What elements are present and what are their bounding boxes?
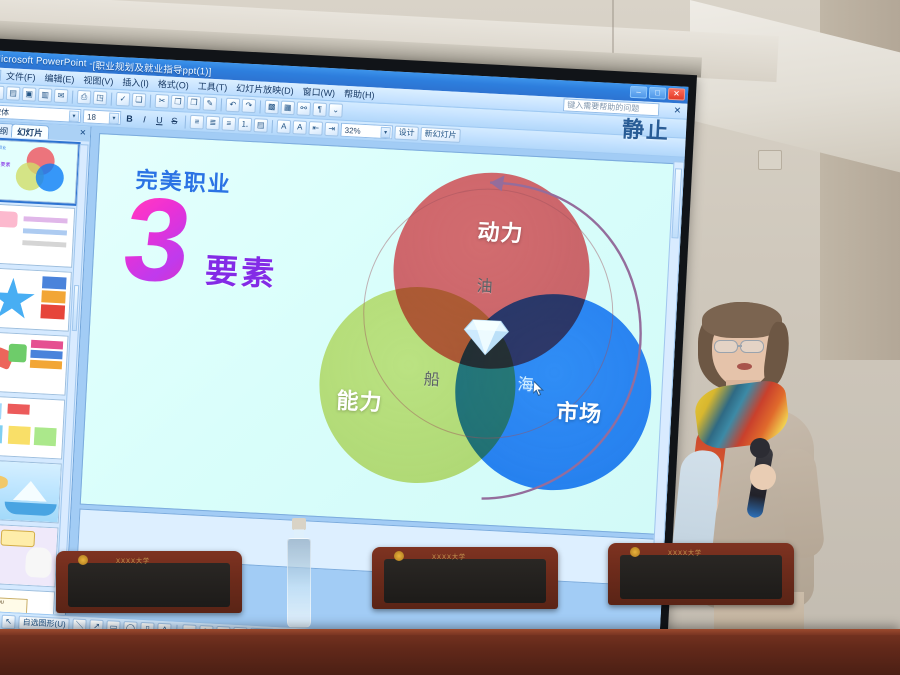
front-desk <box>0 629 900 675</box>
close-document-button[interactable]: ✕ <box>673 105 681 116</box>
toolbar-separator <box>271 120 273 133</box>
chevron-down-icon[interactable]: ▾ <box>69 110 80 122</box>
scrollbar-thumb[interactable] <box>72 285 79 331</box>
toolbar-separator <box>111 92 113 105</box>
numbering-icon[interactable]: ⒈ <box>237 117 252 132</box>
expand-toolbar-icon[interactable]: ⌄ <box>328 103 343 118</box>
align-right-icon[interactable]: ≡ <box>221 116 236 131</box>
slide-thumb-1[interactable]: 完美职业 3 要素 <box>0 139 79 204</box>
italic-button[interactable]: I <box>138 112 152 127</box>
minimize-button[interactable]: – <box>630 86 648 99</box>
email-icon[interactable]: ✉ <box>54 89 69 104</box>
scrollbar-thumb[interactable] <box>671 168 682 238</box>
menu-item-tools[interactable]: 工具(T) <box>193 79 231 94</box>
toolbar-separator <box>72 90 74 103</box>
insert-chart-icon[interactable]: ▩ <box>264 100 279 115</box>
menu-item-file[interactable]: 文件(F) <box>2 69 40 84</box>
paste-icon[interactable]: ❒ <box>187 96 202 111</box>
chevron-down-icon[interactable]: ▾ <box>109 113 120 125</box>
projector-freeze-label: 静止 <box>621 111 671 145</box>
chair-pad <box>620 555 782 599</box>
select-objects-icon[interactable]: ↖ <box>1 615 16 630</box>
bottle-body <box>287 538 311 628</box>
copy-icon[interactable]: ❐ <box>171 95 186 110</box>
align-left-icon[interactable]: ≡ <box>190 115 205 130</box>
slide-big-number: 3 <box>117 180 197 301</box>
design-button[interactable]: 设计 <box>394 126 419 141</box>
chair-engraving: XXXX大学 <box>116 556 150 565</box>
show-formatting-icon[interactable]: ¶ <box>312 102 327 117</box>
slide-thumb-3[interactable] <box>0 267 72 332</box>
toolbar-separator <box>150 94 152 107</box>
underline-button[interactable]: U <box>153 113 167 128</box>
open-icon[interactable]: ▤ <box>6 86 21 101</box>
maximize-button[interactable]: □ <box>649 87 667 100</box>
chair-emblem-icon <box>630 547 640 557</box>
glasses-bridge-icon <box>737 345 742 347</box>
current-slide[interactable]: 完美职业 3 要素 <box>80 133 677 535</box>
menu-item-slideshow[interactable]: 幻灯片放映(D) <box>232 81 298 97</box>
diamond-icon <box>461 317 511 357</box>
chair-engraving: XXXX大学 <box>432 552 466 561</box>
desk-edge <box>0 629 900 635</box>
chair-engraving: XXXX大学 <box>668 548 702 557</box>
insert-table-icon[interactable]: ▦ <box>280 101 295 116</box>
new-icon[interactable]: ▯ <box>0 85 5 100</box>
microphone-head-icon <box>750 438 770 458</box>
close-pane-icon[interactable]: ✕ <box>79 128 86 137</box>
menu-item-format[interactable]: 格式(O) <box>154 77 194 92</box>
shadow-button[interactable]: S <box>168 114 182 129</box>
venn-overlap-label-hai: 海 <box>517 370 534 395</box>
presenter-mouth <box>737 363 752 370</box>
venn-label-dongli: 动力 <box>477 214 525 248</box>
redo-icon[interactable]: ↷ <box>241 98 256 113</box>
slide-thumb-6[interactable] <box>0 459 62 524</box>
font-name-select[interactable]: 宋体 ▾ <box>0 104 81 123</box>
menu-item-edit[interactable]: 编辑(E) <box>40 71 79 86</box>
chair-emblem-icon <box>78 555 88 565</box>
slide-thumb-8[interactable]: Thank You <box>0 587 55 615</box>
water-bottle <box>286 518 312 628</box>
slide-thumb-7[interactable] <box>0 523 58 588</box>
increase-indent-icon[interactable]: ⇥ <box>324 122 339 137</box>
bold-button[interactable]: B <box>123 111 137 126</box>
mouse-cursor-icon <box>533 381 545 397</box>
chair-emblem-icon <box>394 551 404 561</box>
venn-diagram: 动力 能力 市场 油 船 海 <box>313 164 660 521</box>
lecture-hall-scene: Microsoft PowerPoint - [职业规划及就业指导ppt(1)]… <box>0 0 900 675</box>
slide-thumb-2[interactable] <box>0 203 75 268</box>
decrease-indent-icon[interactable]: ⇤ <box>308 121 323 136</box>
window-title: Microsoft PowerPoint - <box>0 53 93 69</box>
slide-thumb-5[interactable] <box>0 395 65 460</box>
insert-hyperlink-icon[interactable]: ⚯ <box>296 101 311 116</box>
align-center-icon[interactable]: ≣ <box>206 116 221 131</box>
format-painter-icon[interactable]: ✎ <box>203 96 218 111</box>
window-controls: – □ ✕ <box>630 86 686 101</box>
bullets-icon[interactable]: ▤ <box>253 118 268 133</box>
zoom-value: 32% <box>344 125 360 135</box>
slide-thumb-4[interactable] <box>0 331 69 396</box>
chair-pad <box>384 559 546 603</box>
chair-pad <box>68 563 230 607</box>
menu-item-help[interactable]: 帮助(H) <box>340 87 379 102</box>
close-button[interactable]: ✕ <box>668 88 686 101</box>
zoom-select[interactable]: 32% ▾ <box>340 123 393 140</box>
chevron-down-icon[interactable]: ▾ <box>380 127 391 139</box>
toolbar-separator <box>185 115 187 128</box>
print-icon[interactable]: ⎙ <box>77 90 92 105</box>
menu-item-window[interactable]: 窗口(W) <box>298 84 339 99</box>
increase-font-icon[interactable]: A <box>276 119 291 134</box>
spelling-icon[interactable]: ✓ <box>116 92 131 107</box>
chair: XXXX大学 <box>56 551 242 635</box>
undo-icon[interactable]: ↶ <box>225 98 240 113</box>
decrease-font-icon[interactable]: A <box>292 120 307 135</box>
venn-overlap-label-you: 油 <box>476 272 493 297</box>
venn-label-shichang: 市场 <box>555 394 603 428</box>
wall-socket <box>758 150 782 170</box>
new-slide-button[interactable]: 新幻灯片 <box>420 127 461 143</box>
venn-label-nengli: 能力 <box>336 383 384 417</box>
toolbar-separator <box>259 100 261 113</box>
font-size-select[interactable]: 18 ▾ <box>83 109 122 125</box>
research-icon[interactable]: ❑ <box>132 93 147 108</box>
permission-icon[interactable]: ▥ <box>38 88 53 103</box>
glasses-lens-right-icon <box>740 340 764 353</box>
menu-item-view[interactable]: 视图(V) <box>79 73 118 88</box>
glasses-lens-left-icon <box>714 340 738 353</box>
save-icon[interactable]: ▣ <box>22 87 37 102</box>
print-preview-icon[interactable]: ◳ <box>93 91 108 106</box>
chair: XXXX大学 <box>608 543 794 627</box>
venn-overlap-label-chuan: 船 <box>423 365 440 390</box>
cut-icon[interactable]: ✂ <box>155 94 170 109</box>
slide-subtitle: 要素 <box>204 244 278 296</box>
toolbar-separator <box>221 98 223 111</box>
chair: XXXX大学 <box>372 547 558 631</box>
font-name-value: 宋体 <box>0 106 9 118</box>
menu-item-insert[interactable]: 插入(I) <box>118 75 153 90</box>
font-size-value: 18 <box>87 112 96 121</box>
